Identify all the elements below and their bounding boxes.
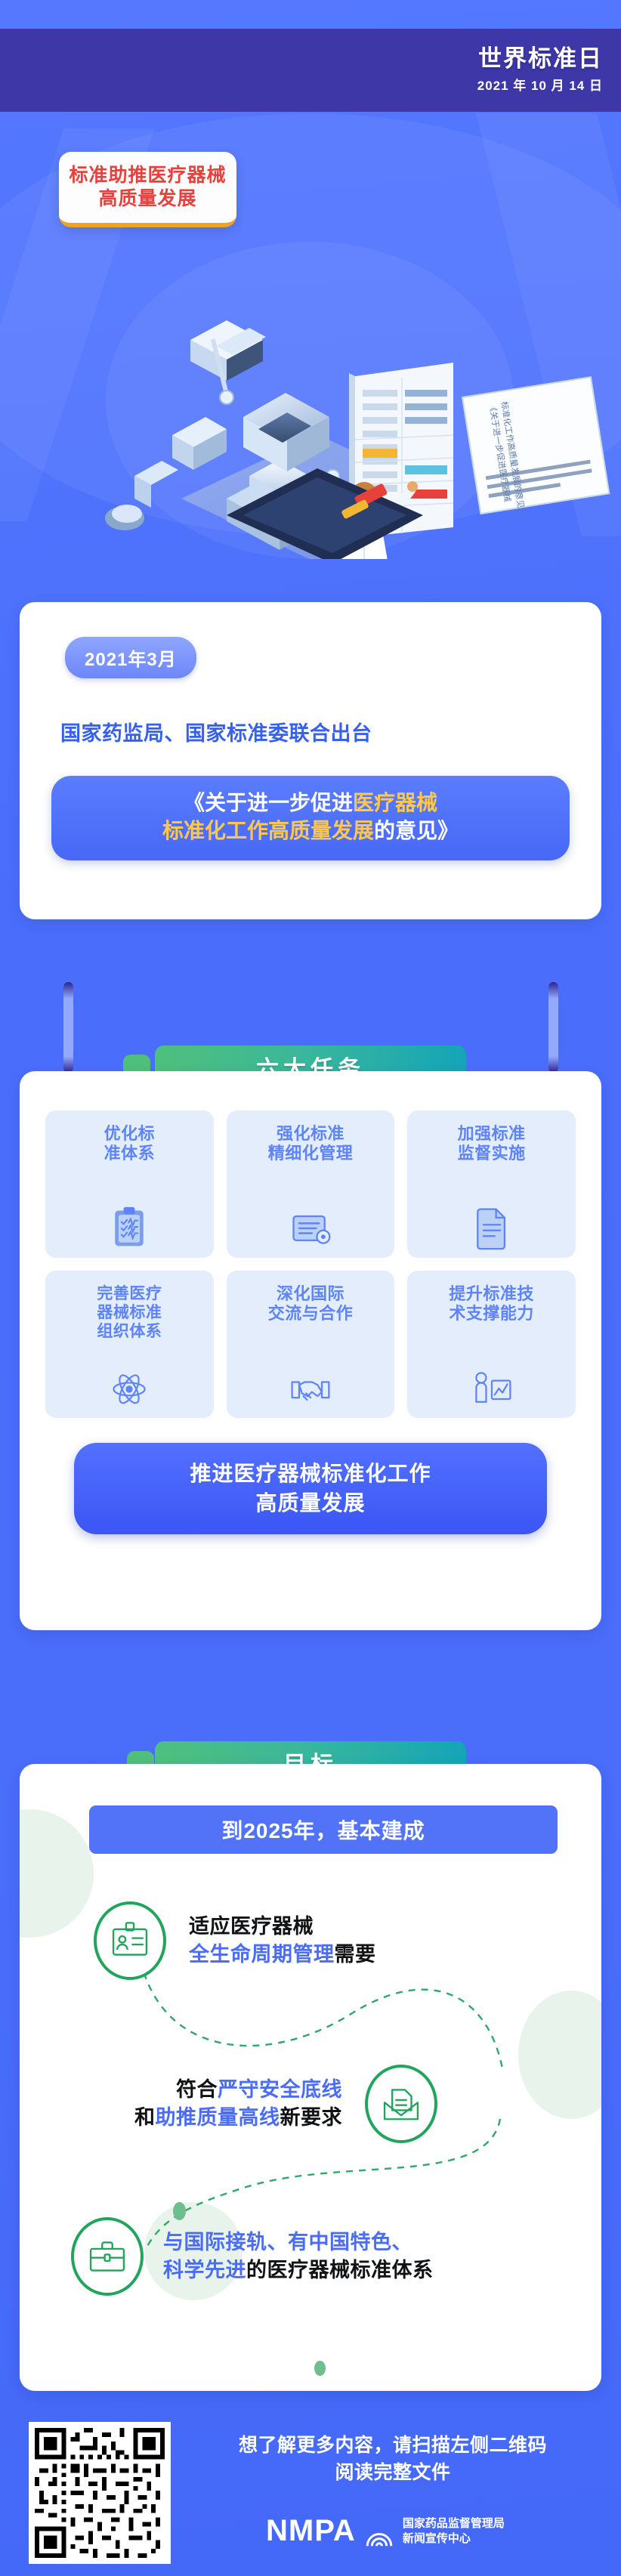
task-card-optimize-standard-system[interactable]: 优化标 准体系 bbox=[45, 1110, 214, 1258]
goal-blob-right bbox=[518, 1991, 601, 2119]
task-card-international-cooperation[interactable]: 深化国际 交流与合作 bbox=[227, 1271, 395, 1418]
nmpa-wordmark: NMPA bbox=[266, 2514, 356, 2548]
goal-ring-3 bbox=[71, 2217, 144, 2296]
main-title-line-1: 标准助推医疗器械 bbox=[69, 164, 226, 187]
tasks-grid: 优化标 准体系 强化标准 精细化管理 bbox=[45, 1110, 576, 1418]
tasks-summary-box: 推进医疗器械标准化工作 高质量发展 bbox=[74, 1443, 547, 1534]
task-label: 深化国际 交流与合作 bbox=[268, 1284, 354, 1324]
handshake-icon bbox=[288, 1365, 333, 1410]
nmpa-subtitle-line1: 国家药品监督管理局 bbox=[403, 2516, 505, 2531]
nmpa-brand-subtitle: 国家药品监督管理局 新闻宣传中心 bbox=[403, 2516, 505, 2547]
qr-code[interactable] bbox=[29, 2422, 171, 2564]
task-label: 强化标准 精细化管理 bbox=[268, 1124, 354, 1164]
main-title-line-2: 高质量发展 bbox=[98, 187, 196, 211]
goal-item-1: 适应医疗器械 全生命周期管理需要 bbox=[94, 1901, 376, 1980]
policy-issuers: 国家药监局、国家标准委联合出台 bbox=[60, 717, 372, 746]
atom-icon bbox=[107, 1365, 152, 1410]
goal-item-3: 与国际接轨、有中国特色、 科学先进的医疗器械标准体系 bbox=[71, 2217, 434, 2296]
goals-panel: 到2025年，基本建成 适应医疗器械 全生命周期管理需要 bbox=[20, 1764, 601, 2391]
goals-year-pill: 到2025年，基本建成 bbox=[89, 1805, 558, 1854]
goal-3-line1: 与国际接轨、有中国特色、 bbox=[163, 2231, 412, 2253]
nmpa-subtitle-line2: 新闻宣传中心 bbox=[403, 2531, 505, 2547]
policy-date-pill: 2021年3月 bbox=[65, 637, 196, 678]
document-envelope-icon bbox=[381, 2083, 422, 2124]
goal-2-line2-tail: 新要求 bbox=[280, 2106, 343, 2129]
goal-text-2: 符合严守安全底线 和助推质量高线新要求 bbox=[134, 2076, 342, 2131]
goal-3-line2-tail: 的医疗器械标准体系 bbox=[246, 2259, 434, 2281]
goal-item-2: 符合严守安全底线 和助推质量高线新要求 bbox=[134, 2065, 437, 2143]
header-title: 世界标准日 bbox=[478, 47, 603, 72]
person-chart-icon bbox=[469, 1365, 514, 1410]
goal-2-line2-head: 和 bbox=[134, 2106, 156, 2129]
connector-left bbox=[63, 982, 73, 1073]
goal-2-line1-head: 符合 bbox=[176, 2078, 218, 2101]
goal-ring-2 bbox=[365, 2065, 437, 2143]
main-title-card: 标准助推医疗器械 高质量发展 bbox=[59, 152, 236, 227]
goal-blob-left bbox=[20, 1809, 94, 1938]
goal-1-line1: 适应医疗器械 bbox=[189, 1915, 314, 1938]
doc-title-part-2: 医疗器械 bbox=[353, 791, 437, 814]
header-banner: 世界标准日 2021 年 10 月 14 日 bbox=[0, 29, 621, 112]
doc-title-part-3: 标准化工作高质量发展 bbox=[162, 819, 374, 842]
footer-cta: 想了解更多内容，请扫描左侧二维码 阅读完整文件 bbox=[181, 2432, 604, 2486]
briefcase-icon bbox=[87, 2236, 128, 2277]
document-list-icon bbox=[469, 1205, 514, 1250]
medical-isometric-illustration: 《关于进一步促进医疗器械 标准化工作高质量发展的意见》 bbox=[0, 249, 621, 559]
task-label: 提升标准技 术支撑能力 bbox=[449, 1284, 534, 1324]
goal-text-1: 适应医疗器械 全生命周期管理需要 bbox=[189, 1913, 376, 1968]
nmpa-brand: NMPA 国家药品监督管理局 新闻宣传中心 bbox=[266, 2514, 505, 2548]
infographic-poster: 世界标准日 2021 年 10 月 14 日 标准助推医疗器械 高质量发展 bbox=[0, 0, 621, 2576]
task-card-refined-management[interactable]: 强化标准 精细化管理 bbox=[227, 1110, 395, 1258]
policy-document-title: 《关于进一步促进医疗器械 标准化工作高质量发展的意见》 bbox=[51, 776, 570, 860]
task-label: 加强标准 监督实施 bbox=[458, 1124, 526, 1164]
doc-title-part-4: 的意见》 bbox=[374, 819, 459, 842]
goal-1-line2-tail: 需要 bbox=[335, 1943, 376, 1966]
policy-panel: 2021年3月 国家药监局、国家标准委联合出台 《关于进一步促进医疗器械 标准化… bbox=[20, 602, 601, 919]
goal-text-3: 与国际接轨、有中国特色、 科学先进的医疗器械标准体系 bbox=[163, 2229, 434, 2284]
document-gear-icon bbox=[288, 1205, 333, 1250]
header-date: 2021 年 10 月 14 日 bbox=[477, 75, 603, 94]
goal-2-line2-highlight: 助推质量高线 bbox=[156, 2106, 280, 2129]
goal-3-line2-highlight: 科学先进 bbox=[163, 2259, 246, 2281]
nmpa-arch-icon bbox=[363, 2516, 395, 2547]
clipboard-check-icon bbox=[107, 1205, 152, 1250]
connector-right bbox=[548, 982, 558, 1073]
doc-title-part-1: 《关于进一步促进 bbox=[184, 791, 353, 814]
task-card-organization-system[interactable]: 完善医疗 器械标准 组织体系 bbox=[45, 1271, 214, 1418]
goal-2-line1-highlight: 严守安全底线 bbox=[218, 2078, 342, 2101]
task-card-technical-support[interactable]: 提升标准技 术支撑能力 bbox=[407, 1271, 576, 1418]
id-card-icon bbox=[110, 1920, 150, 1961]
goal-ring-1 bbox=[94, 1901, 166, 1980]
footer-cta-line1: 想了解更多内容，请扫描左侧二维码 bbox=[181, 2432, 604, 2460]
tasks-panel: 优化标 准体系 强化标准 精细化管理 bbox=[20, 1071, 601, 1630]
task-card-supervision[interactable]: 加强标准 监督实施 bbox=[407, 1110, 576, 1258]
dot-accent-2 bbox=[314, 2361, 326, 2376]
footer-cta-line2: 阅读完整文件 bbox=[181, 2460, 604, 2487]
goal-1-line2-highlight: 全生命周期管理 bbox=[189, 1943, 335, 1966]
footer: 想了解更多内容，请扫描左侧二维码 阅读完整文件 NMPA 国家药品监督管理局 新… bbox=[0, 2408, 621, 2576]
task-label: 优化标 准体系 bbox=[104, 1124, 156, 1164]
task-label: 完善医疗 器械标准 组织体系 bbox=[97, 1284, 162, 1342]
